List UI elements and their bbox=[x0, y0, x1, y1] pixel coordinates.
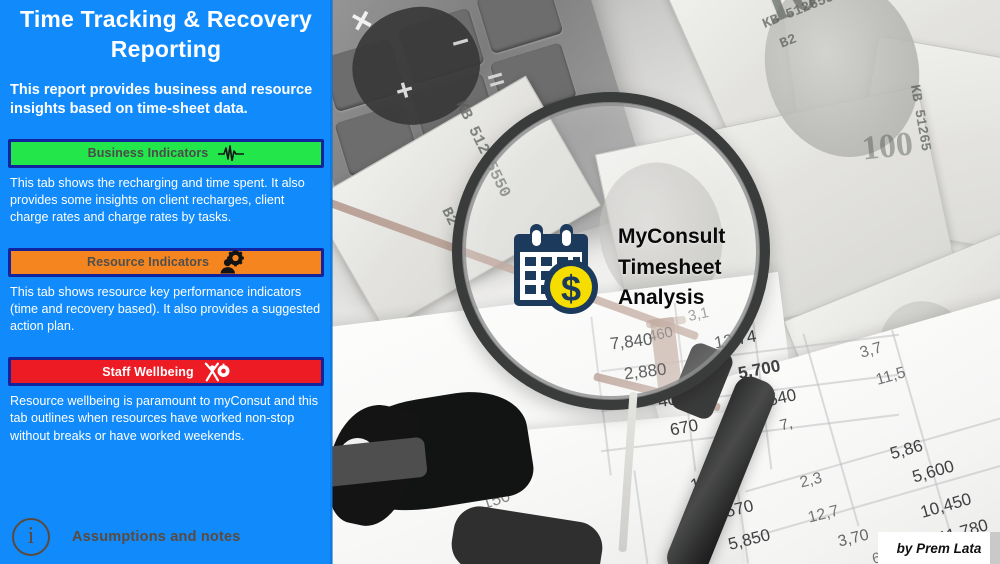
bill-denomination: 100 bbox=[860, 125, 915, 168]
brand-title-line-3: Analysis bbox=[618, 283, 725, 313]
brand-logo-block: $ MyConsult Timesheet Analysis bbox=[508, 222, 725, 314]
tab-staff-wellbeing[interactable]: Staff Wellbeing bbox=[8, 357, 324, 386]
brand-title-line-1: MyConsult bbox=[618, 222, 725, 252]
author-credit-box: by Prem Lata bbox=[878, 532, 1000, 564]
tab-resource-indicators-label: Resource Indicators bbox=[87, 255, 209, 269]
person-gear-icon bbox=[219, 251, 245, 273]
info-circle-icon: i bbox=[12, 518, 50, 556]
tab-business-indicators-label: Business Indicators bbox=[88, 146, 209, 160]
tab-business-indicators-description: This tab shows the recharging and time s… bbox=[8, 175, 324, 226]
brand-title-line-2: Timesheet bbox=[618, 253, 725, 283]
panel-right-edge bbox=[330, 0, 333, 564]
brand-title: MyConsult Timesheet Analysis bbox=[618, 222, 725, 313]
svg-text:$: $ bbox=[561, 268, 581, 309]
assumptions-and-notes-button[interactable]: i Assumptions and notes bbox=[12, 518, 241, 556]
tab-resource-indicators-description: This tab shows resource key performance … bbox=[8, 284, 324, 335]
person-wellbeing-icon bbox=[204, 361, 230, 383]
calendar-dollar-coin-icon: $ bbox=[508, 222, 600, 314]
report-cover-page: × + − = 100 100 100 KB 51265550 B2 KB 51… bbox=[0, 0, 1000, 564]
author-credit-text: by Prem Lata bbox=[897, 541, 982, 556]
assumptions-and-notes-label: Assumptions and notes bbox=[72, 529, 241, 545]
tab-resource-indicators[interactable]: Resource Indicators bbox=[8, 248, 324, 277]
tab-staff-wellbeing-description: Resource wellbeing is paramount to myCon… bbox=[8, 393, 324, 444]
left-info-panel: Time Tracking & Recovery Reporting This … bbox=[0, 0, 332, 564]
credit-scrollbar-stub bbox=[990, 532, 1000, 564]
page-title: Time Tracking & Recovery Reporting bbox=[8, 4, 324, 65]
heartbeat-pulse-icon bbox=[218, 142, 244, 164]
page-subtitle: This report provides business and resour… bbox=[8, 81, 324, 120]
tab-staff-wellbeing-label: Staff Wellbeing bbox=[102, 365, 194, 379]
tab-business-indicators[interactable]: Business Indicators bbox=[8, 139, 324, 168]
